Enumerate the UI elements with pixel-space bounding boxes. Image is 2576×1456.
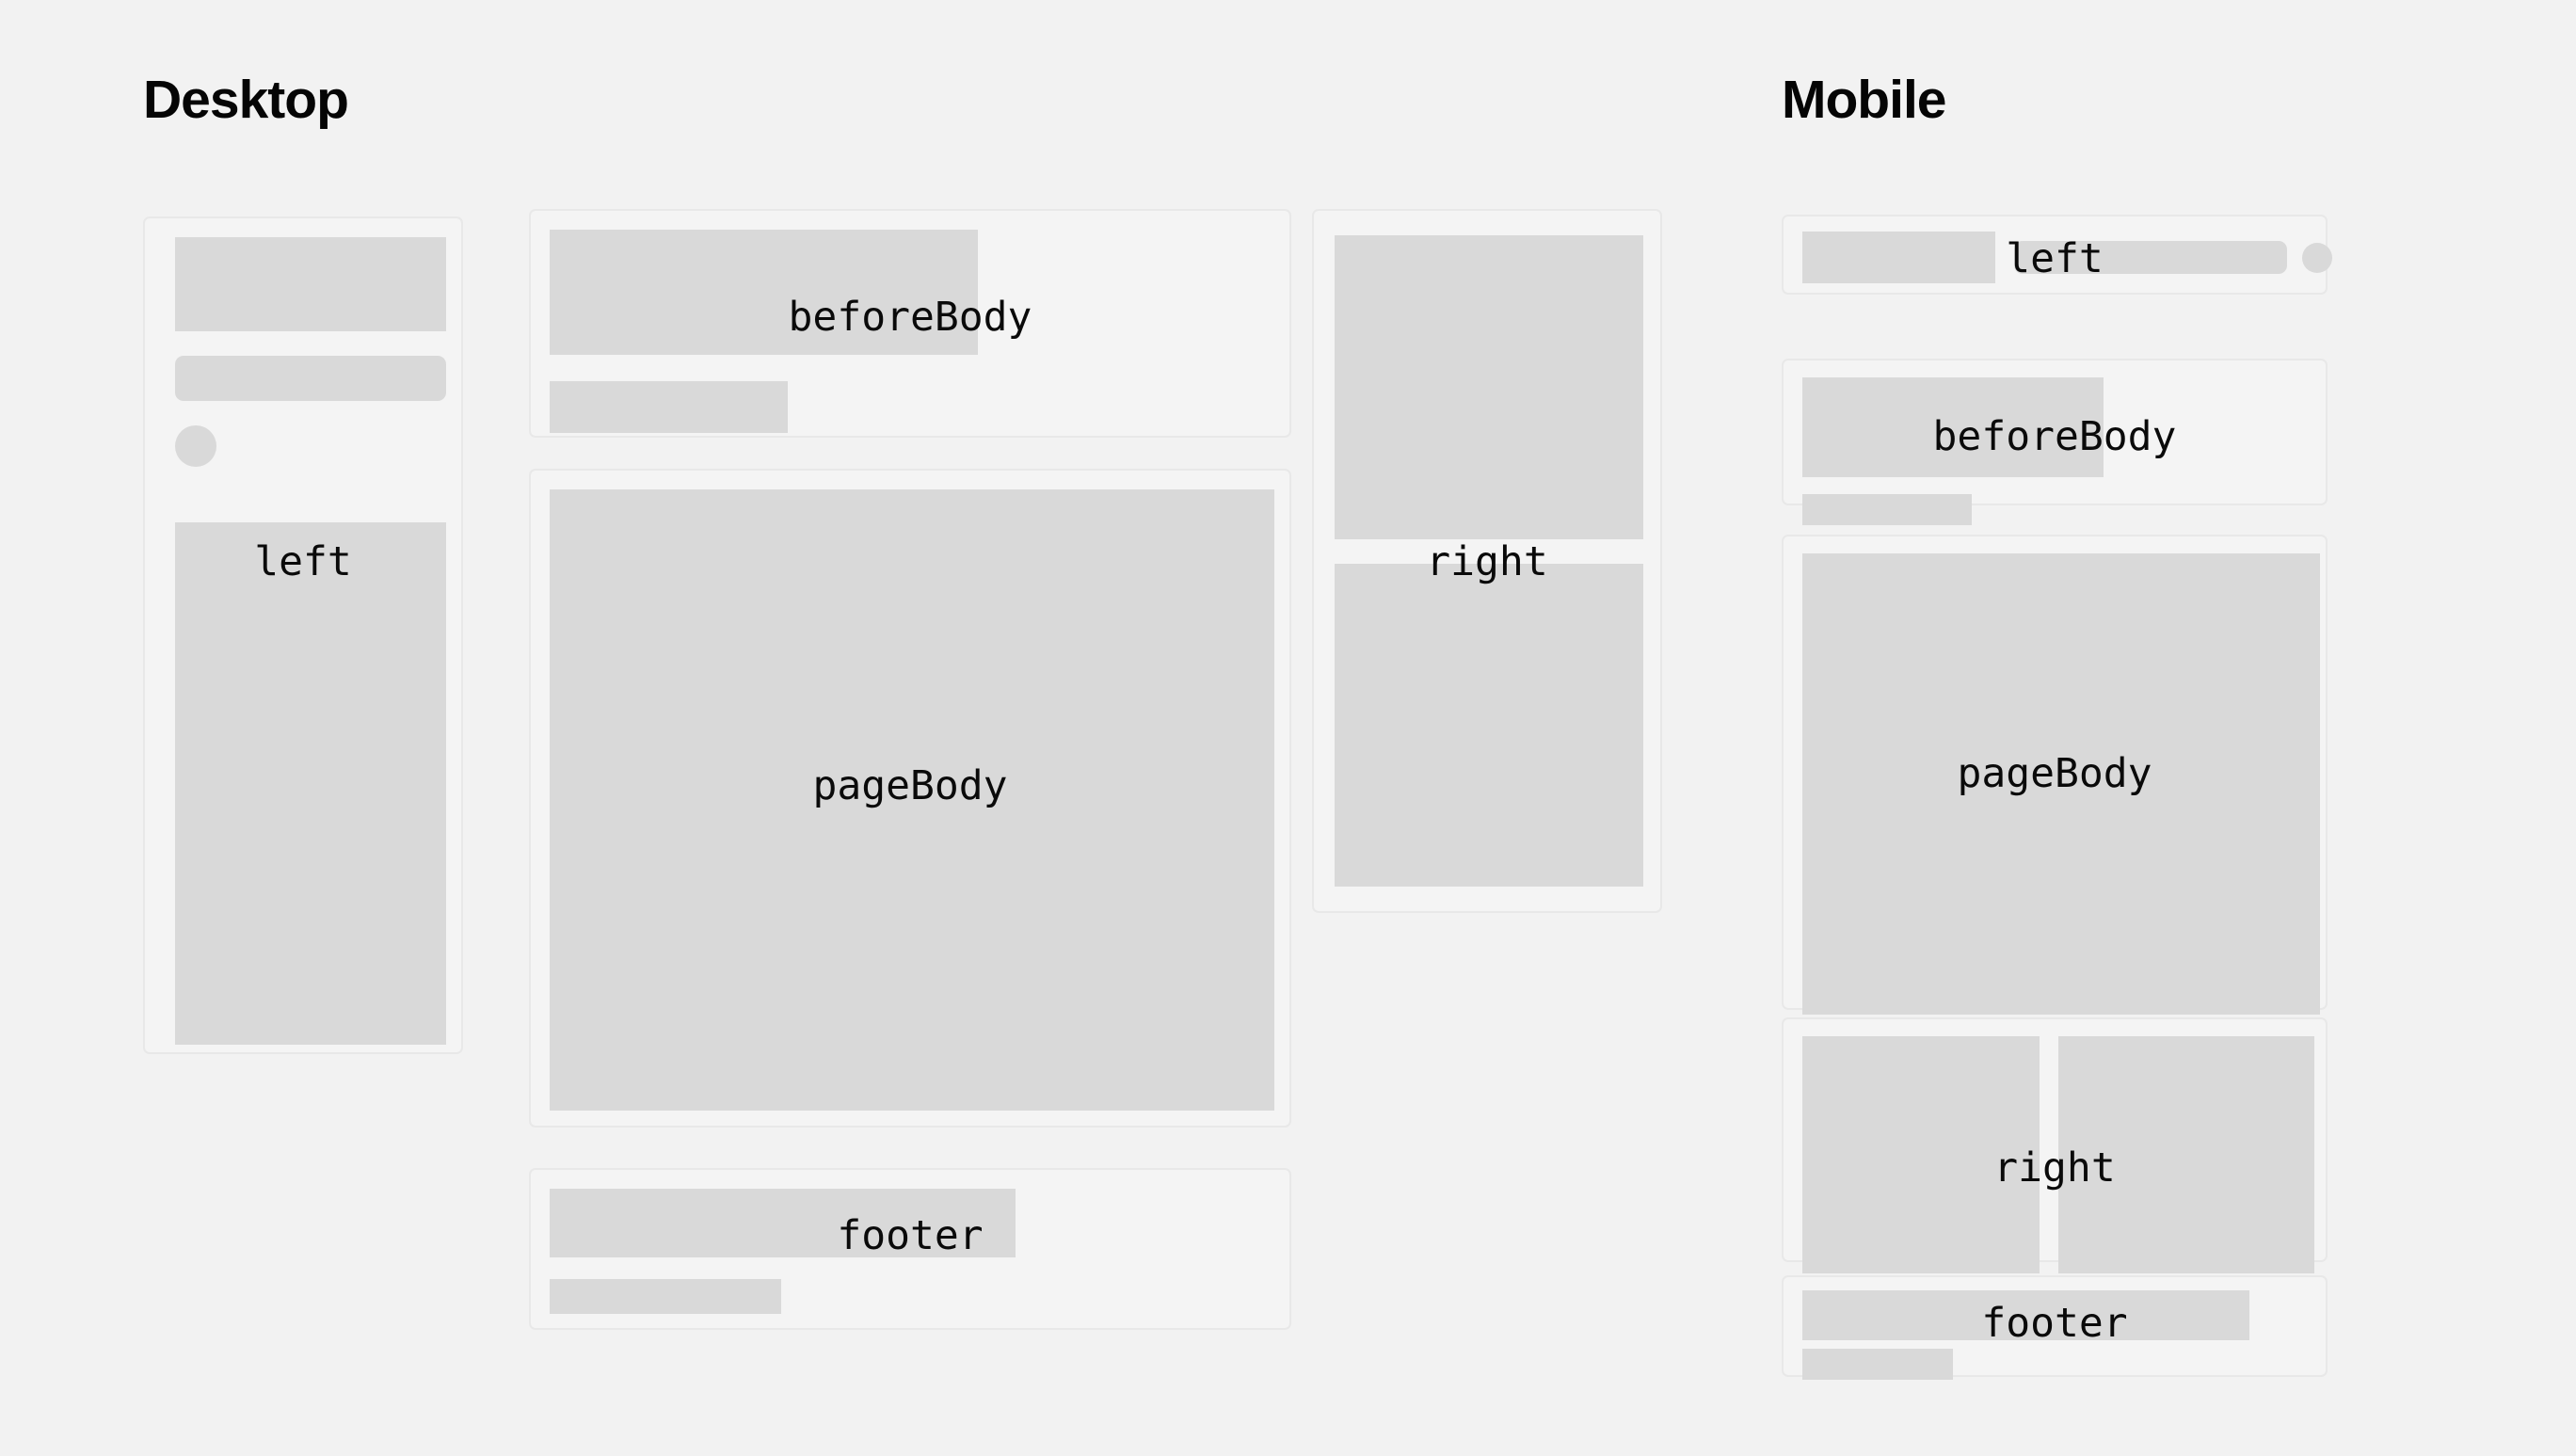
skeleton-block-large bbox=[550, 489, 1274, 1111]
skeleton-block-tall bbox=[175, 522, 446, 1045]
skeleton-block-rect bbox=[550, 230, 978, 355]
skeleton-block-rect bbox=[1802, 1290, 2249, 1340]
skeleton-block-upper bbox=[1335, 235, 1643, 539]
skeleton-block-rect bbox=[1802, 232, 1995, 283]
skeleton-block-bar bbox=[550, 1279, 781, 1314]
mobile-left-slot-panel[interactable] bbox=[1782, 215, 2328, 295]
skeleton-block-circle bbox=[2302, 243, 2332, 273]
desktop-section-title: Desktop bbox=[143, 73, 348, 127]
skeleton-block-circle bbox=[175, 425, 216, 467]
desktop-footer-slot-panel[interactable] bbox=[529, 1168, 1291, 1330]
desktop-pagebody-slot-panel[interactable] bbox=[529, 469, 1291, 1128]
skeleton-block-bar bbox=[550, 381, 788, 433]
skeleton-block-rect bbox=[550, 1189, 1016, 1257]
mobile-section-title: Mobile bbox=[1782, 73, 1946, 127]
mobile-beforebody-slot-panel[interactable] bbox=[1782, 359, 2328, 505]
skeleton-block-right bbox=[2058, 1036, 2314, 1273]
skeleton-block-rect bbox=[175, 237, 446, 331]
desktop-left-slot-panel[interactable] bbox=[143, 216, 463, 1054]
mobile-footer-slot-panel[interactable] bbox=[1782, 1275, 2328, 1377]
wireframe-stage: Desktop left beforeBody pageBody footer … bbox=[0, 0, 2576, 1456]
mobile-pagebody-slot-panel[interactable] bbox=[1782, 535, 2328, 1010]
skeleton-block-left bbox=[1802, 1036, 2040, 1273]
skeleton-block-bar bbox=[175, 356, 446, 401]
desktop-right-slot-panel[interactable] bbox=[1312, 209, 1662, 913]
skeleton-block-lower bbox=[1335, 564, 1643, 887]
skeleton-block-bar bbox=[1802, 1349, 1953, 1380]
desktop-beforebody-slot-panel[interactable] bbox=[529, 209, 1291, 438]
skeleton-block-bar bbox=[1802, 494, 1972, 525]
skeleton-block-bar bbox=[2014, 241, 2287, 274]
skeleton-block-rect bbox=[1802, 377, 2104, 477]
mobile-right-slot-panel[interactable] bbox=[1782, 1017, 2328, 1262]
skeleton-block-large bbox=[1802, 553, 2320, 1015]
